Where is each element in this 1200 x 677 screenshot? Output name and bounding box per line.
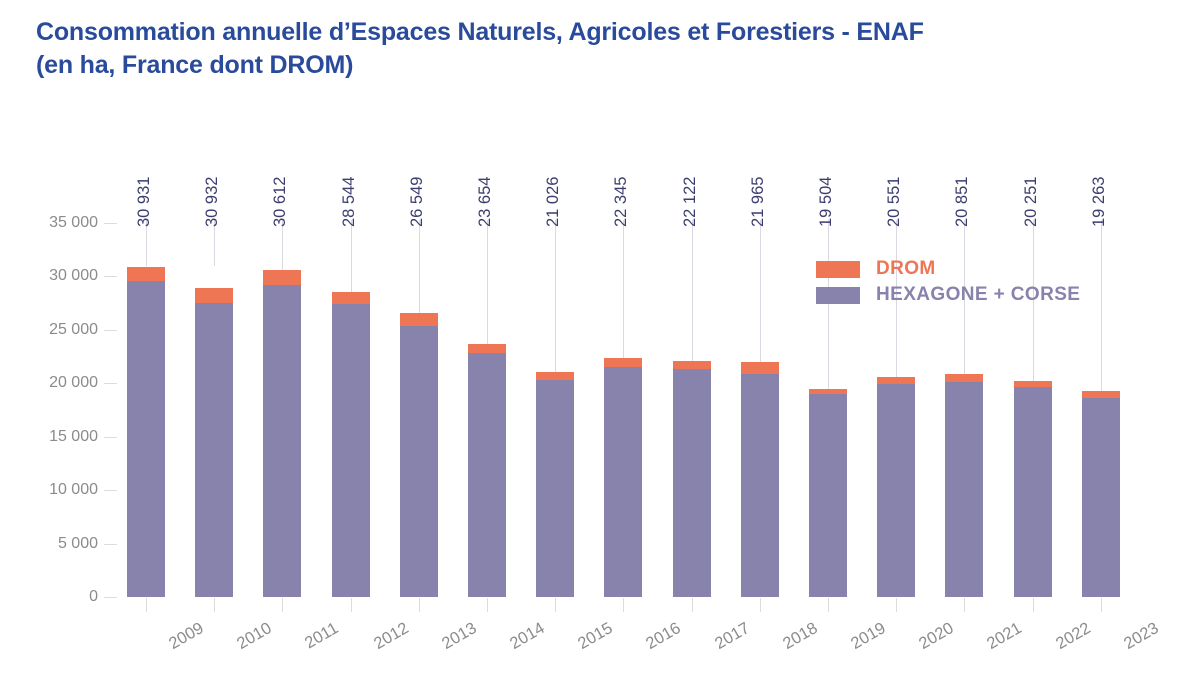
bar-segment-drom[interactable] xyxy=(945,374,983,381)
x-axis-tick xyxy=(692,598,693,612)
x-axis-label-2023: 2023 xyxy=(1121,619,1162,654)
y-axis-tick xyxy=(104,437,117,438)
bar-segment-hexagone-corse[interactable] xyxy=(195,303,233,597)
bar-value-label: 28 544 xyxy=(340,177,359,227)
y-axis-label: 0 xyxy=(8,588,98,606)
bar-segment-drom[interactable] xyxy=(400,313,438,326)
y-axis-tick xyxy=(104,544,117,545)
x-axis-label-2009: 2009 xyxy=(166,619,207,654)
bar-2009[interactable] xyxy=(127,266,165,597)
y-axis-label: 25 000 xyxy=(8,321,98,339)
chart-plot-area: 05 00010 00015 00020 00025 00030 00035 0… xyxy=(0,0,1200,677)
bar-segment-hexagone-corse[interactable] xyxy=(536,380,574,597)
legend-item-drom[interactable]: DROM xyxy=(816,256,1080,282)
bar-segment-drom[interactable] xyxy=(604,358,642,367)
legend-swatch-drom xyxy=(816,261,860,278)
value-label-leader-line xyxy=(419,220,420,313)
x-axis-label-2013: 2013 xyxy=(439,619,480,654)
y-axis-label: 15 000 xyxy=(8,428,98,446)
bar-2014[interactable] xyxy=(468,344,506,597)
bar-2017[interactable] xyxy=(673,361,711,597)
bar-value-label: 20 251 xyxy=(1022,177,1041,227)
x-axis-tick xyxy=(419,598,420,612)
bar-segment-drom[interactable] xyxy=(468,344,506,353)
bar-2022[interactable] xyxy=(1014,381,1052,597)
bar-2013[interactable] xyxy=(400,313,438,597)
bar-segment-drom[interactable] xyxy=(195,288,233,303)
legend-label-drom: DROM xyxy=(876,258,936,280)
bar-segment-drom[interactable] xyxy=(536,372,574,379)
y-axis-tick xyxy=(104,490,117,491)
bar-segment-hexagone-corse[interactable] xyxy=(741,374,779,597)
y-axis-tick xyxy=(104,330,117,331)
bar-segment-hexagone-corse[interactable] xyxy=(604,367,642,597)
bar-segment-hexagone-corse[interactable] xyxy=(1014,387,1052,597)
y-axis-tick xyxy=(104,597,117,598)
value-label-leader-line xyxy=(692,220,693,361)
bar-2012[interactable] xyxy=(332,292,370,597)
bar-value-label: 21 026 xyxy=(544,177,563,227)
bar-value-label: 22 345 xyxy=(612,177,631,227)
bar-value-label: 19 504 xyxy=(817,177,836,227)
legend-label-hexagone-corse: HEXAGONE + CORSE xyxy=(876,284,1080,306)
bar-segment-drom[interactable] xyxy=(673,361,711,370)
x-axis-label-2015: 2015 xyxy=(575,619,616,654)
x-axis-tick xyxy=(282,598,283,612)
bar-value-label: 21 965 xyxy=(749,177,768,227)
y-axis-tick xyxy=(104,276,117,277)
x-axis-tick xyxy=(623,598,624,612)
bar-2011[interactable] xyxy=(263,270,301,597)
bar-segment-hexagone-corse[interactable] xyxy=(809,394,847,597)
y-axis-tick xyxy=(104,223,117,224)
value-label-leader-line xyxy=(760,220,761,362)
chart-legend: DROM HEXAGONE + CORSE xyxy=(816,256,1080,308)
x-axis-tick xyxy=(1033,598,1034,612)
legend-swatch-hexagone-corse xyxy=(816,287,860,304)
bar-value-label: 30 931 xyxy=(135,177,154,227)
x-axis-tick xyxy=(146,598,147,612)
x-axis-label-2014: 2014 xyxy=(507,619,548,654)
y-axis-label: 30 000 xyxy=(8,267,98,285)
x-axis-tick xyxy=(487,598,488,612)
bar-segment-drom[interactable] xyxy=(1014,381,1052,387)
bar-2018[interactable] xyxy=(741,362,779,597)
y-axis-label: 35 000 xyxy=(8,214,98,232)
bar-segment-drom[interactable] xyxy=(127,267,165,282)
bar-segment-drom[interactable] xyxy=(809,389,847,394)
bar-2010[interactable] xyxy=(195,266,233,597)
bar-value-label: 23 654 xyxy=(476,177,495,227)
value-label-leader-line xyxy=(282,220,283,270)
bar-segment-drom[interactable] xyxy=(332,292,370,304)
bar-value-label: 19 263 xyxy=(1090,177,1109,227)
value-label-leader-line xyxy=(1101,220,1102,391)
x-axis-label-2017: 2017 xyxy=(712,619,753,654)
x-axis-label-2012: 2012 xyxy=(371,619,412,654)
bar-segment-hexagone-corse[interactable] xyxy=(127,281,165,597)
bar-segment-drom[interactable] xyxy=(1082,391,1120,398)
bar-segment-hexagone-corse[interactable] xyxy=(332,304,370,597)
chart-page: Consommation annuelle d’Espaces Naturels… xyxy=(0,0,1200,677)
x-axis-tick xyxy=(351,598,352,612)
bar-segment-hexagone-corse[interactable] xyxy=(877,384,915,597)
x-axis-tick xyxy=(760,598,761,612)
bar-value-label: 30 932 xyxy=(203,177,222,227)
bar-segment-hexagone-corse[interactable] xyxy=(1082,398,1120,597)
x-axis-label-2016: 2016 xyxy=(643,619,684,654)
value-label-leader-line xyxy=(487,220,488,344)
bar-2020[interactable] xyxy=(877,377,915,597)
x-axis-label-2019: 2019 xyxy=(848,619,889,654)
x-axis-label-2022: 2022 xyxy=(1053,619,1094,654)
bar-value-label: 30 612 xyxy=(271,177,290,227)
value-label-leader-line xyxy=(555,220,556,372)
bar-segment-drom[interactable] xyxy=(741,362,779,374)
value-label-leader-line xyxy=(351,220,352,292)
x-axis-label-2011: 2011 xyxy=(302,619,342,653)
x-axis-tick xyxy=(1101,598,1102,612)
bar-2019[interactable] xyxy=(809,389,847,597)
x-axis-tick xyxy=(964,598,965,612)
x-axis-label-2020: 2020 xyxy=(916,619,957,654)
bar-segment-drom[interactable] xyxy=(263,270,301,285)
bar-value-label: 26 549 xyxy=(408,177,427,227)
bar-segment-hexagone-corse[interactable] xyxy=(468,353,506,597)
bar-segment-hexagone-corse[interactable] xyxy=(945,382,983,597)
bar-segment-drom[interactable] xyxy=(877,377,915,383)
bar-value-label: 22 122 xyxy=(681,177,700,227)
x-axis-tick xyxy=(828,598,829,612)
bar-value-label: 20 551 xyxy=(885,177,904,227)
bar-2016[interactable] xyxy=(604,358,642,597)
y-axis-label: 10 000 xyxy=(8,481,98,499)
bar-2015[interactable] xyxy=(536,372,574,597)
y-axis-label: 5 000 xyxy=(8,535,98,553)
bar-segment-hexagone-corse[interactable] xyxy=(263,285,301,597)
x-axis-label-2018: 2018 xyxy=(780,619,821,654)
bar-2021[interactable] xyxy=(945,374,983,597)
bar-segment-hexagone-corse[interactable] xyxy=(400,326,438,597)
legend-item-hexagone-corse[interactable]: HEXAGONE + CORSE xyxy=(816,282,1080,308)
bar-segment-hexagone-corse[interactable] xyxy=(673,369,711,597)
x-axis-label-2021: 2021 xyxy=(984,619,1025,654)
x-axis-label-2010: 2010 xyxy=(234,619,275,654)
y-axis-tick xyxy=(104,383,117,384)
y-axis-label: 20 000 xyxy=(8,374,98,392)
bar-value-label: 20 851 xyxy=(953,177,972,227)
bar-2023[interactable] xyxy=(1082,391,1120,597)
x-axis-tick xyxy=(214,598,215,612)
x-axis-tick xyxy=(896,598,897,612)
x-axis-tick xyxy=(555,598,556,612)
value-label-leader-line xyxy=(623,220,624,358)
